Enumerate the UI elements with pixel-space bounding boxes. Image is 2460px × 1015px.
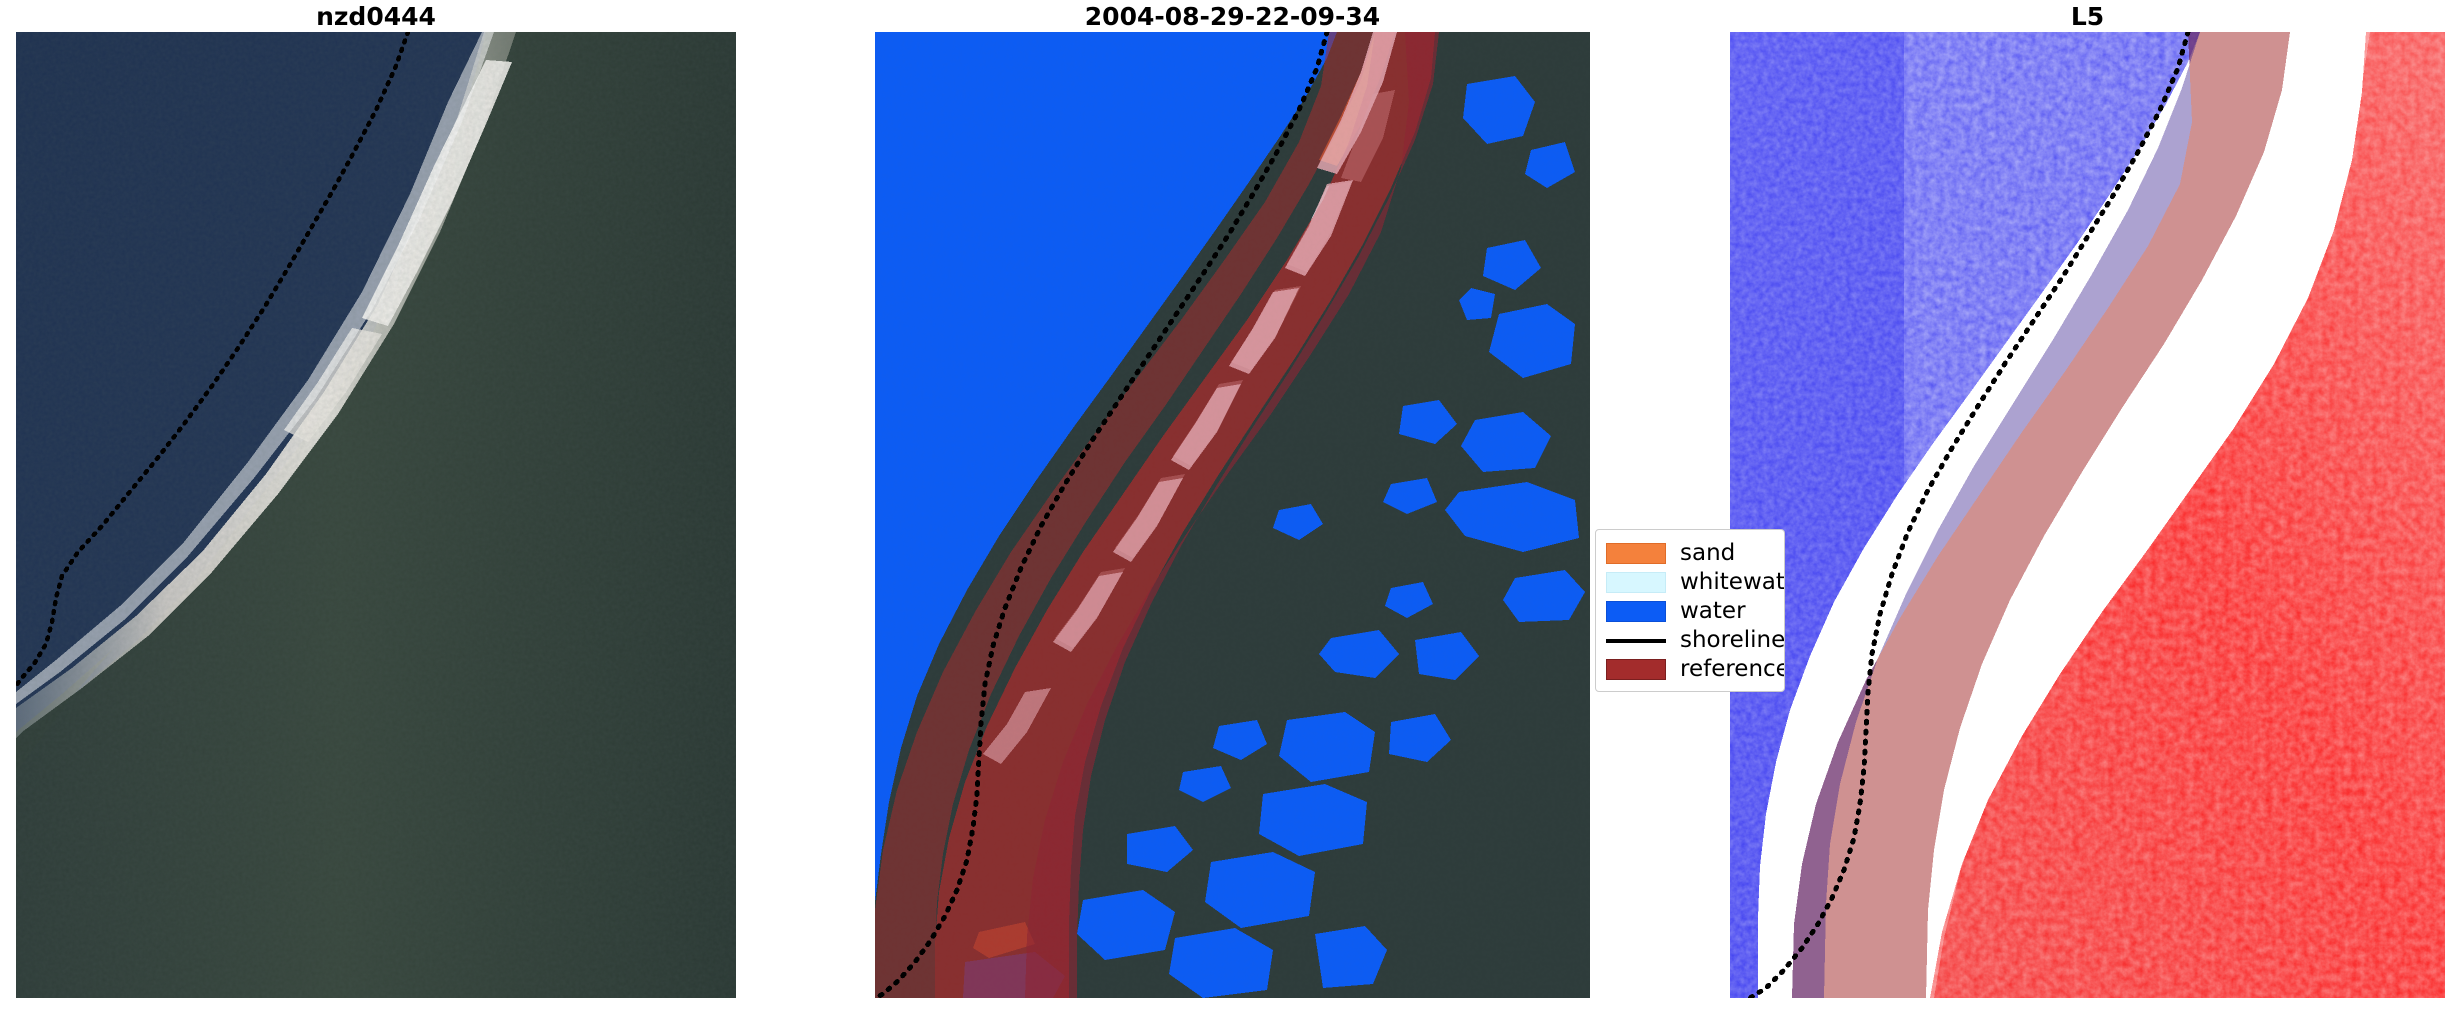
legend-item-water: water	[1596, 597, 1784, 626]
legend: sand whitewater water shoreline referenc…	[1595, 529, 1785, 692]
legend-item-sand: sand	[1596, 539, 1784, 568]
panel-title-rgb: nzd0444	[16, 2, 736, 31]
shoreline-line-swatch	[1606, 630, 1666, 651]
whitewater-swatch	[1606, 572, 1666, 593]
legend-label-shoreline: shoreline	[1680, 629, 1785, 652]
legend-label-reference-shoreline: reference shoreline	[1680, 658, 1785, 681]
panel-classified-image: 2004-08-29-22-09-34	[875, 32, 1590, 998]
legend-label-whitewater: whitewater	[1680, 571, 1785, 594]
legend-item-reference-shoreline: reference shoreline	[1596, 655, 1784, 684]
panel-title-index: L5	[1730, 2, 2445, 31]
panel-index-image: L5	[1730, 32, 2445, 998]
water-swatch	[1606, 601, 1666, 622]
panel-title-classified: 2004-08-29-22-09-34	[875, 2, 1590, 31]
reference-shoreline-swatch	[1606, 659, 1666, 680]
panel-rgb-image: nzd0444	[16, 32, 736, 998]
legend-label-water: water	[1680, 600, 1746, 623]
panel-image-rgb	[16, 32, 736, 998]
legend-item-shoreline: shoreline	[1596, 626, 1784, 655]
figure-canvas: nzd0444	[0, 0, 2460, 1015]
panel-image-index	[1730, 32, 2445, 998]
panel-image-classified	[875, 32, 1590, 998]
sand-swatch	[1606, 543, 1666, 564]
legend-label-sand: sand	[1680, 542, 1735, 565]
legend-item-whitewater: whitewater	[1596, 568, 1784, 597]
